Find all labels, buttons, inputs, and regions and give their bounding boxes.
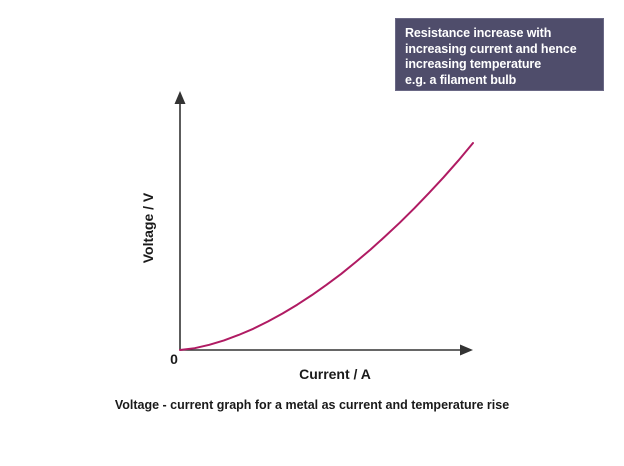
voltage-current-curve — [180, 143, 473, 350]
x-axis-arrow-icon — [460, 345, 473, 356]
figure-canvas: Voltage / V Current / A 0 Resistance inc… — [0, 0, 624, 466]
origin-label: 0 — [170, 351, 178, 367]
annotation-line-3: increasing temperature — [405, 57, 603, 73]
annotation-line-2: increasing current and hence — [405, 42, 603, 58]
figure-caption: Voltage - current graph for a metal as c… — [115, 398, 509, 412]
y-axis-label: Voltage / V — [140, 193, 156, 264]
annotation-callout: Resistance increase with increasing curr… — [395, 18, 604, 91]
annotation-line-1: Resistance increase with — [405, 26, 603, 42]
y-axis-arrow-icon — [175, 91, 186, 104]
annotation-line-4: e.g. a filament bulb — [405, 73, 603, 89]
x-axis-label: Current / A — [299, 366, 371, 382]
